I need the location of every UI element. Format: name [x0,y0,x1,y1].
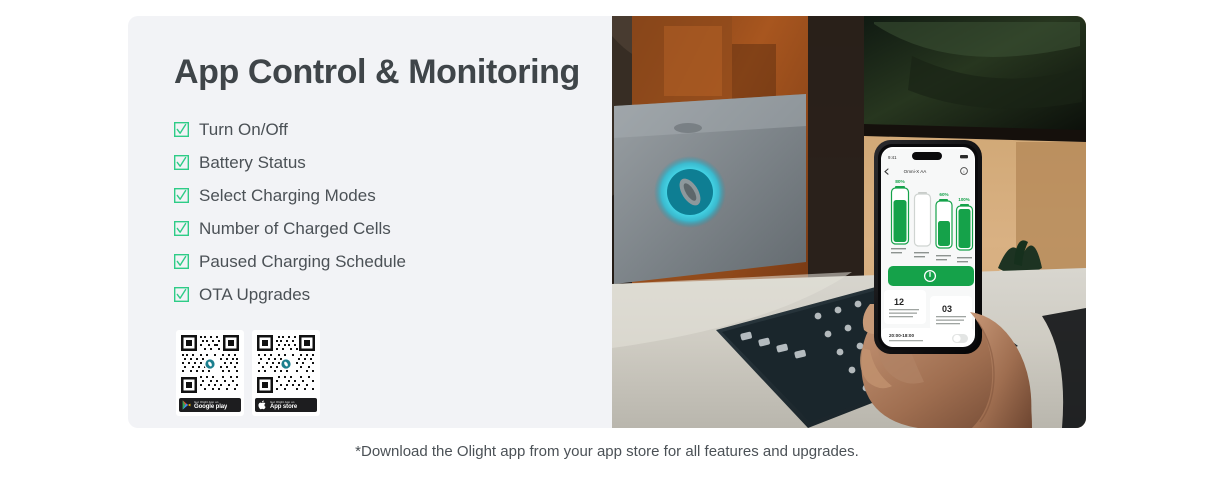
checkbox-checked-icon [174,287,189,302]
list-item-label: Select Charging Modes [199,187,376,204]
list-item-label: Battery Status [199,154,306,171]
list-item-label: Turn On/Off [199,121,288,138]
list-item-label: Number of Charged Cells [199,220,391,237]
feature-card: App Control & Monitoring Turn On/Off [128,16,1086,428]
checkbox-checked-icon [174,188,189,203]
checkbox-checked-icon [174,122,189,137]
feature-list: Turn On/Off Battery Status [174,113,612,311]
list-item-label: Paused Charging Schedule [199,253,406,270]
svg-text:Omni-X AA: Omni-X AA [904,169,928,174]
list-item-label: OTA Upgrades [199,286,310,303]
olight-o-logo [205,360,214,369]
svg-text:100%: 100% [958,197,969,202]
checkbox-checked-icon [174,221,189,236]
svg-text:20:00-18:00: 20:00-18:00 [889,333,914,338]
app-store-links: Get Olight App on Google play [176,330,612,416]
footnote-caption: *Download the Olight app from your app s… [0,443,1214,460]
list-item: Select Charging Modes [174,179,612,212]
qr-code-google-play[interactable] [179,333,241,395]
app-store-card[interactable]: Get Olight App on App store [252,330,320,416]
checkbox-checked-icon [174,254,189,269]
app-store-badge-text: Get Olight App on App store [270,401,297,410]
svg-text:03: 03 [942,304,952,314]
card-left-pane: App Control & Monitoring Turn On/Off [128,16,612,428]
olight-o-logo [281,360,290,369]
badge-main-label: Google play [194,404,227,410]
checkbox-checked-icon [174,155,189,170]
svg-text:9:41: 9:41 [888,155,897,160]
svg-text:80%: 80% [895,179,905,185]
svg-text:60%: 60% [939,192,948,197]
google-play-icon [182,400,191,410]
svg-text:i: i [964,169,965,174]
google-play-badge[interactable]: Get Olight App on Google play [179,398,241,412]
qr-code-app-store[interactable] [255,333,317,395]
list-item: OTA Upgrades [174,278,612,311]
apple-icon [258,400,267,410]
svg-text:12: 12 [894,297,904,307]
list-item: Number of Charged Cells [174,212,612,245]
product-photo: 9:41 Omni-X AA i 80% 60% [612,16,1086,428]
list-item: Paused Charging Schedule [174,245,612,278]
list-item: Turn On/Off [174,113,612,146]
list-item: Battery Status [174,146,612,179]
app-store-badge[interactable]: Get Olight App on App store [255,398,317,412]
page-root: App Control & Monitoring Turn On/Off [0,0,1214,501]
page-title: App Control & Monitoring [174,54,612,91]
badge-main-label: App store [270,404,297,410]
product-photo-illustration: 9:41 Omni-X AA i 80% 60% [612,16,1086,428]
google-play-badge-text: Get Olight App on Google play [194,401,227,410]
google-play-store-card[interactable]: Get Olight App on Google play [176,330,244,416]
